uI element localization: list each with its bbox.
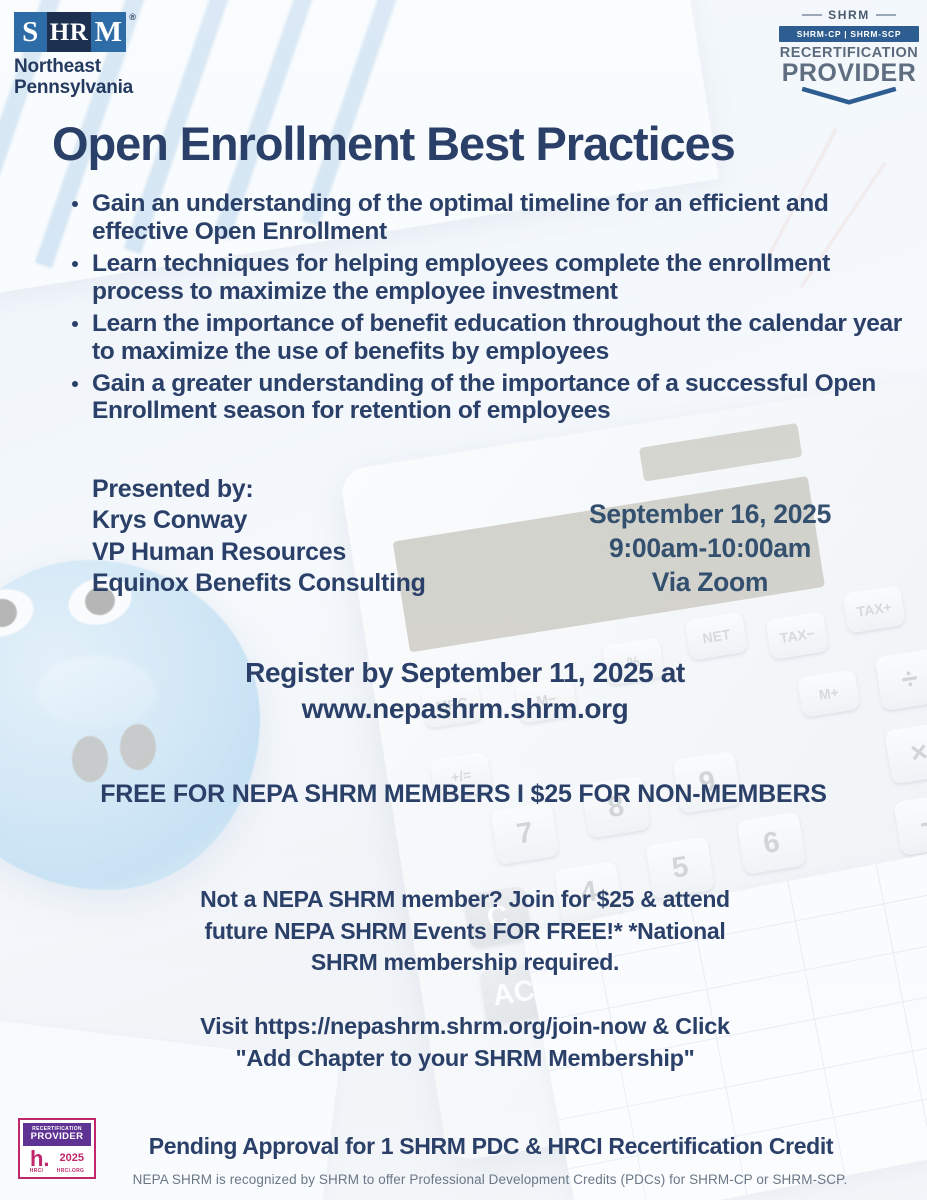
join-click-label: "Add Chapter to your SHRM Membership" [130,1042,800,1074]
badge-credentials: SHRM-CP | SHRM-SCP [779,26,919,42]
join-url[interactable]: Visit https://nepashrm.shrm.org/join-now… [130,1010,800,1042]
chapter-line-1: Northeast [14,56,133,77]
badge-rule-right [876,14,896,16]
badge-org-label: SHRM [828,8,870,22]
hrci-year: 2025 [60,1152,84,1164]
event-time: 9:00am-10:00am [540,532,880,566]
shrm-wordmark-icon: S HR M ® [14,12,126,52]
membership-offer-line-2: future NEPA SHRM Events FOR FREE!* *Nati… [150,916,780,948]
pricing-banner: FREE FOR NEPA SHRM MEMBERS I $25 FOR NON… [0,780,927,809]
membership-offer-block: Not a NEPA SHRM member? Join for $25 & a… [150,884,780,979]
hrci-provider-label: PROVIDER [23,1132,91,1142]
presenter-block: Presented by: Krys Conway VP Human Resou… [92,474,426,599]
presenter-company: Equinox Benefits Consulting [92,568,426,599]
register-url[interactable]: www.nepashrm.shrm.org [140,691,790,727]
event-date: September 16, 2025 [540,498,880,532]
shrm-recertification-provider-badge: SHRM SHRM-CP | SHRM-SCP RECERTIFICATION … [779,8,919,110]
presenter-name: Krys Conway [92,505,426,536]
badge-chevron-icon [786,87,912,105]
hrci-org-label: HRCI [30,1168,43,1174]
badge-rule-left [802,14,822,16]
hrci-recertification-provider-badge: RECERTIFICATION PROVIDER h. 2025 HRCI HR… [18,1118,96,1179]
hrci-badge-header: RECERTIFICATION PROVIDER [23,1123,91,1146]
disclaimer-text: NEPA SHRM is recognized by SHRM to offer… [60,1172,920,1187]
shrm-letter-s: S [14,12,47,52]
presented-by-label: Presented by: [92,474,426,505]
hrci-badge-body: h. 2025 [23,1146,91,1168]
presenter-role: VP Human Resources [92,537,426,568]
page-title: Open Enrollment Best Practices [52,116,882,171]
hrci-h-logo-icon: h. [30,1150,50,1168]
shrm-letter-m: M [91,12,126,52]
membership-offer-line-1: Not a NEPA SHRM member? Join for $25 & a… [150,884,780,916]
registration-block: Register by September 11, 2025 at www.ne… [140,655,790,728]
shrm-nepa-logo: S HR M ® Northeast Pennsylvania [14,12,133,99]
credit-approval-text: Pending Approval for 1 SHRM PDC & HRCI R… [96,1133,886,1160]
event-location: Via Zoom [540,566,880,600]
event-details-block: September 16, 2025 9:00am-10:00am Via Zo… [540,498,880,600]
join-instructions-block: Visit https://nepashrm.shrm.org/join-now… [130,1010,800,1075]
badge-provider-label: PROVIDER [779,61,919,85]
chapter-name: Northeast Pennsylvania [14,56,133,99]
list-item: Learn techniques for helping employees c… [62,250,902,306]
badge-org-row: SHRM [779,8,919,22]
chapter-line-2: Pennsylvania [14,77,133,98]
membership-offer-line-3: SHRM membership required. [150,947,780,979]
register-deadline: Register by September 11, 2025 at [140,655,790,691]
list-item: Learn the importance of benefit educatio… [62,310,902,366]
flyer-content: S HR M ® Northeast Pennsylvania SHRM SHR… [0,0,927,1200]
list-item: Gain a greater understanding of the impo… [62,370,902,426]
registered-trademark-icon: ® [129,12,136,22]
list-item: Gain an understanding of the optimal tim… [62,190,902,246]
learning-objectives-list: Gain an understanding of the optimal tim… [62,190,902,429]
shrm-letter-hr: HR [47,12,91,52]
